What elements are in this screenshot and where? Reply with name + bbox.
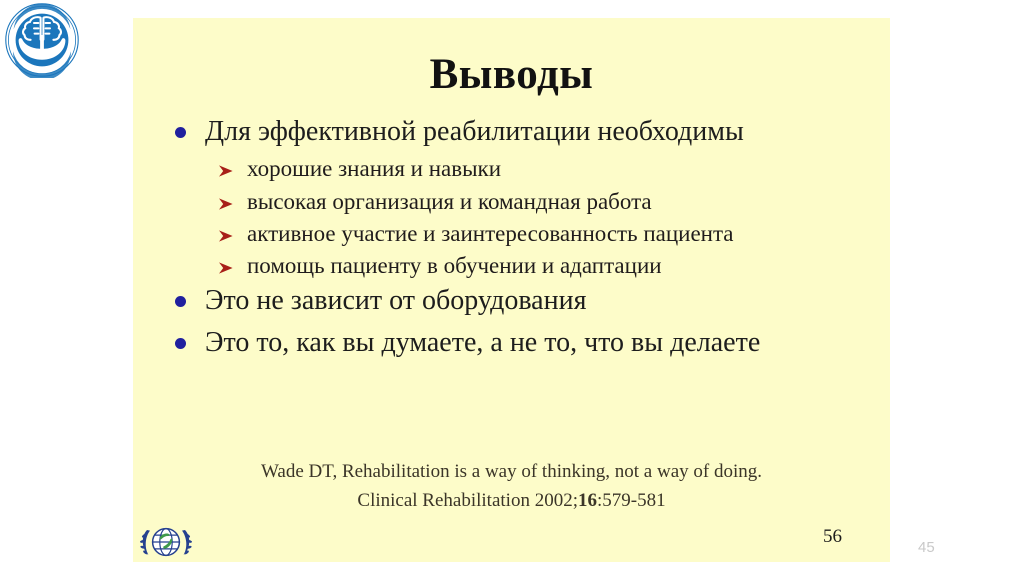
round-dot-bullet-icon xyxy=(175,338,186,349)
citation-pages: :579-581 xyxy=(597,490,666,511)
page-number: 45 xyxy=(918,539,935,556)
bullet-level2: высокая организация и командная работа xyxy=(163,188,883,215)
slide-number: 56 xyxy=(823,526,842,548)
bullet-level2-label: активное участие и заинтересованность па… xyxy=(247,221,734,246)
citation-line-2: Clinical Rehabilitation 2002;16:579-581 xyxy=(133,487,890,516)
citation-volume: 16 xyxy=(578,490,597,511)
slide-title: Выводы xyxy=(133,50,890,99)
bullet-level2-label: помощь пациенту в обучении и адаптации xyxy=(247,253,662,278)
sub-bullet-group: хорошие знания и навыки высокая организа… xyxy=(163,155,883,279)
bullet-level2: активное участие и заинтересованность па… xyxy=(163,220,883,247)
bullet-level2-label: хорошие знания и навыки xyxy=(247,156,501,181)
arrow-bullet-icon xyxy=(217,256,235,274)
arrow-bullet-icon xyxy=(217,224,235,242)
bullet-level1-label: Для эффективной реабилитации необходимы xyxy=(205,116,744,147)
bullet-level2-label: высокая организация и командная работа xyxy=(247,189,652,214)
round-dot-bullet-icon xyxy=(175,296,186,307)
bullet-level1: Это то, как вы думаете, а не то, что вы … xyxy=(163,327,883,359)
bullet-level1: Для эффективной реабилитации необходимы xyxy=(163,116,883,148)
footer-logo xyxy=(135,522,197,562)
bullet-level1-label: Это не зависит от оборудования xyxy=(205,285,586,316)
slide-canvas: Выводы Для эффективной реабилитации необ… xyxy=(133,18,890,562)
bullet-level2: хорошие знания и навыки xyxy=(163,155,883,182)
organization-logo xyxy=(4,2,80,78)
citation-line-1: Wade DT, Rehabilitation is a way of thin… xyxy=(133,458,890,487)
round-dot-bullet-icon xyxy=(175,127,186,138)
bullet-level1-label: Это то, как вы думаете, а не то, что вы … xyxy=(205,327,760,358)
citation-journal: Clinical Rehabilitation 2002; xyxy=(357,490,578,511)
arrow-bullet-icon xyxy=(217,192,235,210)
bullet-level2: помощь пациенту в обучении и адаптации xyxy=(163,252,883,279)
citation-block: Wade DT, Rehabilitation is a way of thin… xyxy=(133,458,890,515)
arrow-bullet-icon xyxy=(217,159,235,177)
slide-body-list: Для эффективной реабилитации необходимы … xyxy=(163,116,883,362)
bullet-level1: Это не зависит от оборудования xyxy=(163,285,883,317)
